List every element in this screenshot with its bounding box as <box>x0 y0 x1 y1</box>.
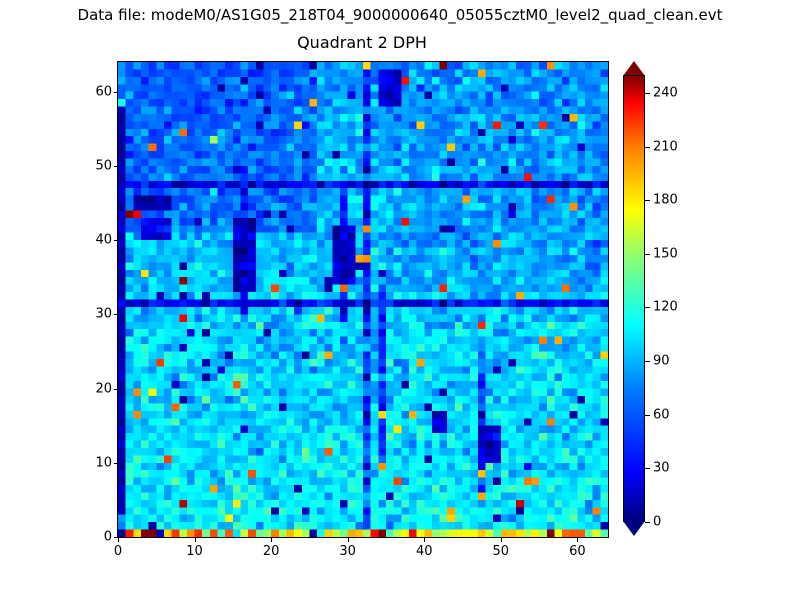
y-axis-tick-label: 10 <box>95 455 112 470</box>
x-axis-tick-label: 60 <box>569 544 586 559</box>
colorbar[interactable]: 0306090120150180210240 <box>623 61 645 536</box>
x-axis-tick <box>118 538 119 542</box>
x-axis-tick-label: 0 <box>114 544 122 559</box>
colorbar-under-arrow-icon <box>623 521 645 536</box>
colorbar-tick-label: 30 <box>653 461 670 476</box>
x-axis-tick-label: 20 <box>263 544 280 559</box>
y-axis-tick <box>114 166 118 167</box>
y-axis-tick-label: 0 <box>104 530 112 545</box>
y-axis-tick <box>114 537 118 538</box>
y-axis-tick-label: 30 <box>95 307 112 322</box>
colorbar-tick <box>645 415 650 416</box>
colorbar-tick-label: 120 <box>653 300 678 315</box>
plot-title: Quadrant 2 DPH <box>117 33 607 52</box>
x-axis-tick <box>577 538 578 542</box>
x-axis-tick <box>271 538 272 542</box>
y-axis-tick <box>114 314 118 315</box>
colorbar-tick-label: 0 <box>653 515 661 530</box>
colorbar-tick <box>645 93 650 94</box>
x-axis-tick <box>501 538 502 542</box>
colorbar-tick <box>645 254 650 255</box>
colorbar-tick-label: 90 <box>653 354 670 369</box>
colorbar-tick-label: 60 <box>653 407 670 422</box>
y-axis-tick-label: 50 <box>95 158 112 173</box>
y-axis-tick <box>114 240 118 241</box>
y-axis-tick <box>114 389 118 390</box>
x-axis-tick-label: 10 <box>186 544 203 559</box>
x-axis-tick-label: 40 <box>416 544 433 559</box>
y-axis-tick-label: 40 <box>95 233 112 248</box>
colorbar-gradient <box>623 75 645 522</box>
x-axis-tick <box>195 538 196 542</box>
detector-heatmap-image[interactable] <box>118 62 608 537</box>
colorbar-tick <box>645 468 650 469</box>
heatmap-axes[interactable]: 01020304050600102030405060 <box>117 61 609 538</box>
figure-canvas: Data file: modeM0/AS1G05_218T04_90000006… <box>0 0 800 600</box>
data-file-label: Data file: modeM0/AS1G05_218T04_90000006… <box>0 6 800 24</box>
colorbar-tick-label: 240 <box>653 85 678 100</box>
y-axis-tick-label: 60 <box>95 84 112 99</box>
colorbar-tick-label: 150 <box>653 246 678 261</box>
colorbar-tick <box>645 522 650 523</box>
colorbar-tick <box>645 200 650 201</box>
colorbar-tick <box>645 147 650 148</box>
y-axis-tick <box>114 92 118 93</box>
colorbar-tick <box>645 307 650 308</box>
colorbar-tick-label: 180 <box>653 193 678 208</box>
x-axis-tick <box>348 538 349 542</box>
x-axis-tick <box>424 538 425 542</box>
x-axis-tick-label: 30 <box>339 544 356 559</box>
y-axis-tick-label: 20 <box>95 381 112 396</box>
colorbar-over-arrow-icon <box>623 61 645 76</box>
x-axis-tick-label: 50 <box>493 544 510 559</box>
colorbar-tick-label: 210 <box>653 139 678 154</box>
colorbar-tick <box>645 361 650 362</box>
y-axis-tick <box>114 463 118 464</box>
